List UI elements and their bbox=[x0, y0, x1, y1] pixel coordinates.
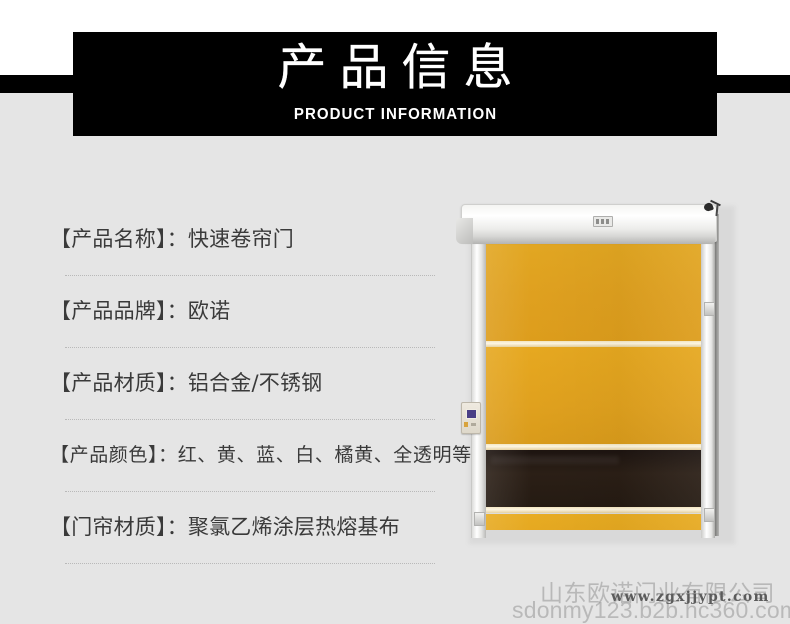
rail-bracket bbox=[704, 302, 715, 316]
plate-segment bbox=[596, 219, 599, 224]
door-crank-fitting bbox=[702, 200, 722, 218]
spec-text-product-color: 【产品颜色】：红、黄、蓝、白、橘黄、全透明等 bbox=[50, 440, 472, 470]
spec-text-product-name: 【产品名称】：快速卷帘门 bbox=[50, 224, 294, 254]
watermark-site-url: www.zgxjjypt.com bbox=[611, 589, 770, 605]
spec-row-product-brand: 【产品品牌】：欧诺 bbox=[0, 290, 470, 362]
spec-separator bbox=[65, 419, 435, 420]
control-box-button-secondary bbox=[471, 423, 476, 426]
door-curtain bbox=[483, 240, 703, 530]
curtain-seam bbox=[483, 507, 703, 513]
product-spec-list: 【产品名称】：快速卷帘门 【产品品牌】：欧诺 【产品材质】：铝合金/不锈钢 【产… bbox=[0, 218, 470, 578]
control-box-button-primary bbox=[464, 422, 468, 427]
rail-bracket bbox=[704, 508, 715, 522]
page-subtitle: PRODUCT INFORMATION bbox=[92, 106, 697, 124]
rail-bracket bbox=[474, 512, 485, 526]
curtain-panel-middle bbox=[483, 347, 703, 445]
housing-control-plate bbox=[593, 216, 613, 227]
spec-separator bbox=[65, 563, 435, 564]
door-guide-rail-right bbox=[701, 226, 715, 538]
spec-row-product-color: 【产品颜色】：红、黄、蓝、白、橘黄、全透明等 bbox=[0, 434, 470, 506]
curtain-panel-upper bbox=[483, 240, 703, 342]
crank-arm-vertical bbox=[715, 205, 718, 216]
door-guide-rail-left bbox=[471, 226, 486, 538]
door-header-housing-base bbox=[461, 236, 715, 244]
wall-control-box bbox=[461, 402, 481, 434]
door-header-left-cap bbox=[456, 218, 473, 244]
plate-segment bbox=[606, 219, 609, 224]
curtain-panel-lower bbox=[483, 514, 703, 530]
crank-knob bbox=[703, 202, 714, 212]
spec-separator bbox=[65, 347, 435, 348]
curtain-vision-panel bbox=[483, 450, 703, 509]
spec-row-product-material: 【产品材质】：铝合金/不锈钢 bbox=[0, 362, 470, 434]
vision-panel-glint bbox=[491, 456, 619, 464]
spec-text-product-material: 【产品材质】：铝合金/不锈钢 bbox=[50, 368, 322, 398]
header-banner: 产品信息 PRODUCT INFORMATION bbox=[73, 32, 717, 136]
spec-text-curtain-material: 【门帘材质】：聚氯乙烯涂层热熔基布 bbox=[50, 512, 400, 542]
spec-row-product-name: 【产品名称】：快速卷帘门 bbox=[0, 218, 470, 290]
spec-row-curtain-material: 【门帘材质】：聚氯乙烯涂层热熔基布 bbox=[0, 506, 470, 578]
product-information-page: 产品信息 PRODUCT INFORMATION 【产品名称】：快速卷帘门 【产… bbox=[0, 0, 790, 624]
spec-separator bbox=[65, 491, 435, 492]
spec-separator bbox=[65, 275, 435, 276]
page-title: 产品信息 bbox=[73, 38, 717, 98]
plate-segment bbox=[601, 219, 604, 224]
header-rule-right bbox=[705, 75, 790, 93]
product-photo-rolling-door bbox=[455, 196, 747, 544]
spec-text-product-brand: 【产品品牌】：欧诺 bbox=[50, 296, 230, 326]
control-box-display bbox=[466, 409, 477, 419]
